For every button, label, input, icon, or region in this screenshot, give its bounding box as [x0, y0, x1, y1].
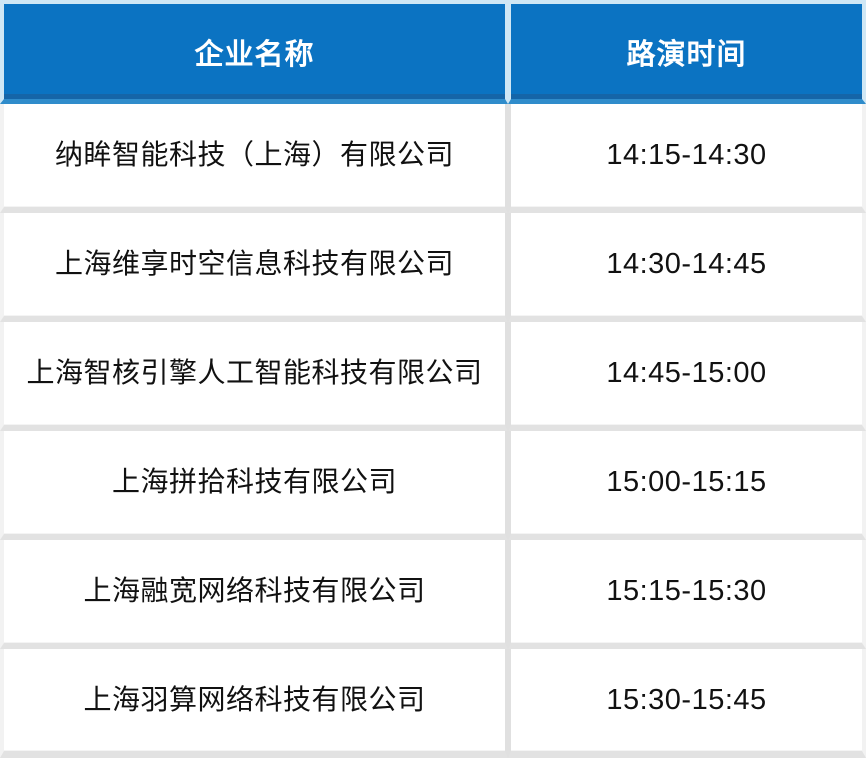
table-row: 上海拼拾科技有限公司 15:00-15:15: [0, 431, 866, 540]
table-row: 上海融宽网络科技有限公司 15:15-15:30: [0, 540, 866, 649]
cell-roadshow-time: 15:00-15:15: [508, 431, 866, 540]
cell-company-name: 纳眸智能科技（上海）有限公司: [0, 104, 508, 213]
cell-company-name: 上海羽算网络科技有限公司: [0, 649, 508, 758]
column-header-company-name: 企业名称: [0, 0, 508, 104]
table-header: 企业名称 路演时间: [0, 0, 866, 104]
cell-roadshow-time: 14:45-15:00: [508, 322, 866, 431]
cell-company-name: 上海智核引擎人工智能科技有限公司: [0, 322, 508, 431]
cell-company-name: 上海拼拾科技有限公司: [0, 431, 508, 540]
cell-roadshow-time: 15:15-15:30: [508, 540, 866, 649]
table-header-row: 企业名称 路演时间: [0, 0, 866, 104]
roadshow-schedule-table: 企业名称 路演时间 纳眸智能科技（上海）有限公司 14:15-14:30 上海维…: [0, 0, 866, 758]
table-body: 纳眸智能科技（上海）有限公司 14:15-14:30 上海维享时空信息科技有限公…: [0, 104, 866, 758]
table-row: 纳眸智能科技（上海）有限公司 14:15-14:30: [0, 104, 866, 213]
cell-roadshow-time: 14:30-14:45: [508, 213, 866, 322]
table-row: 上海维享时空信息科技有限公司 14:30-14:45: [0, 213, 866, 322]
table-row: 上海羽算网络科技有限公司 15:30-15:45: [0, 649, 866, 758]
cell-roadshow-time: 14:15-14:30: [508, 104, 866, 213]
table-row: 上海智核引擎人工智能科技有限公司 14:45-15:00: [0, 322, 866, 431]
cell-roadshow-time: 15:30-15:45: [508, 649, 866, 758]
column-header-roadshow-time: 路演时间: [508, 0, 866, 104]
cell-company-name: 上海融宽网络科技有限公司: [0, 540, 508, 649]
cell-company-name: 上海维享时空信息科技有限公司: [0, 213, 508, 322]
